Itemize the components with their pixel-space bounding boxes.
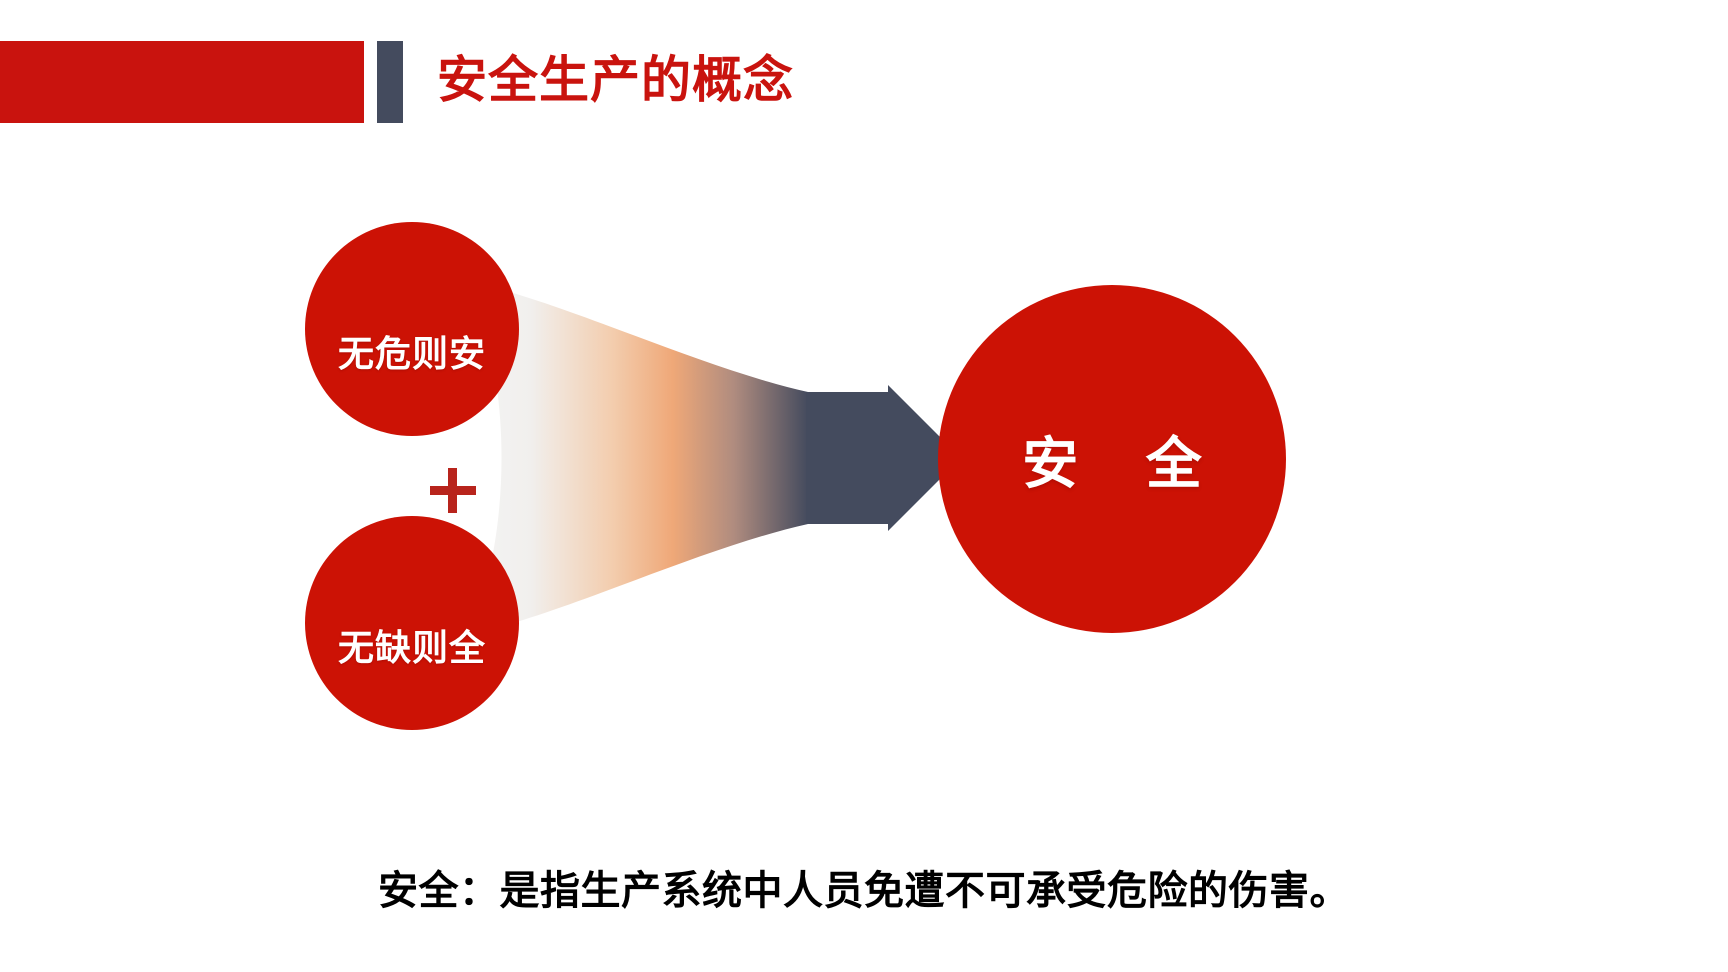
concept-diagram: 无危则安 无缺则全 安 全 <box>0 0 1728 972</box>
output-circle-label: 安 全 <box>996 419 1228 500</box>
output-circle-result[interactable]: 安 全 <box>938 285 1286 633</box>
plus-operator-icon <box>430 446 476 506</box>
input-circle-top[interactable]: 无危则安 <box>305 222 519 436</box>
plus-vertical-bar <box>448 468 457 513</box>
input-circle-bottom[interactable]: 无缺则全 <box>305 516 519 730</box>
slide-canvas: 安全生产的概念 无危则安 <box>0 0 1728 972</box>
input-circle-top-label: 无危则安 <box>338 325 486 377</box>
input-circle-bottom-label: 无缺则全 <box>338 619 486 671</box>
funnel-arrow-icon <box>0 0 1728 972</box>
